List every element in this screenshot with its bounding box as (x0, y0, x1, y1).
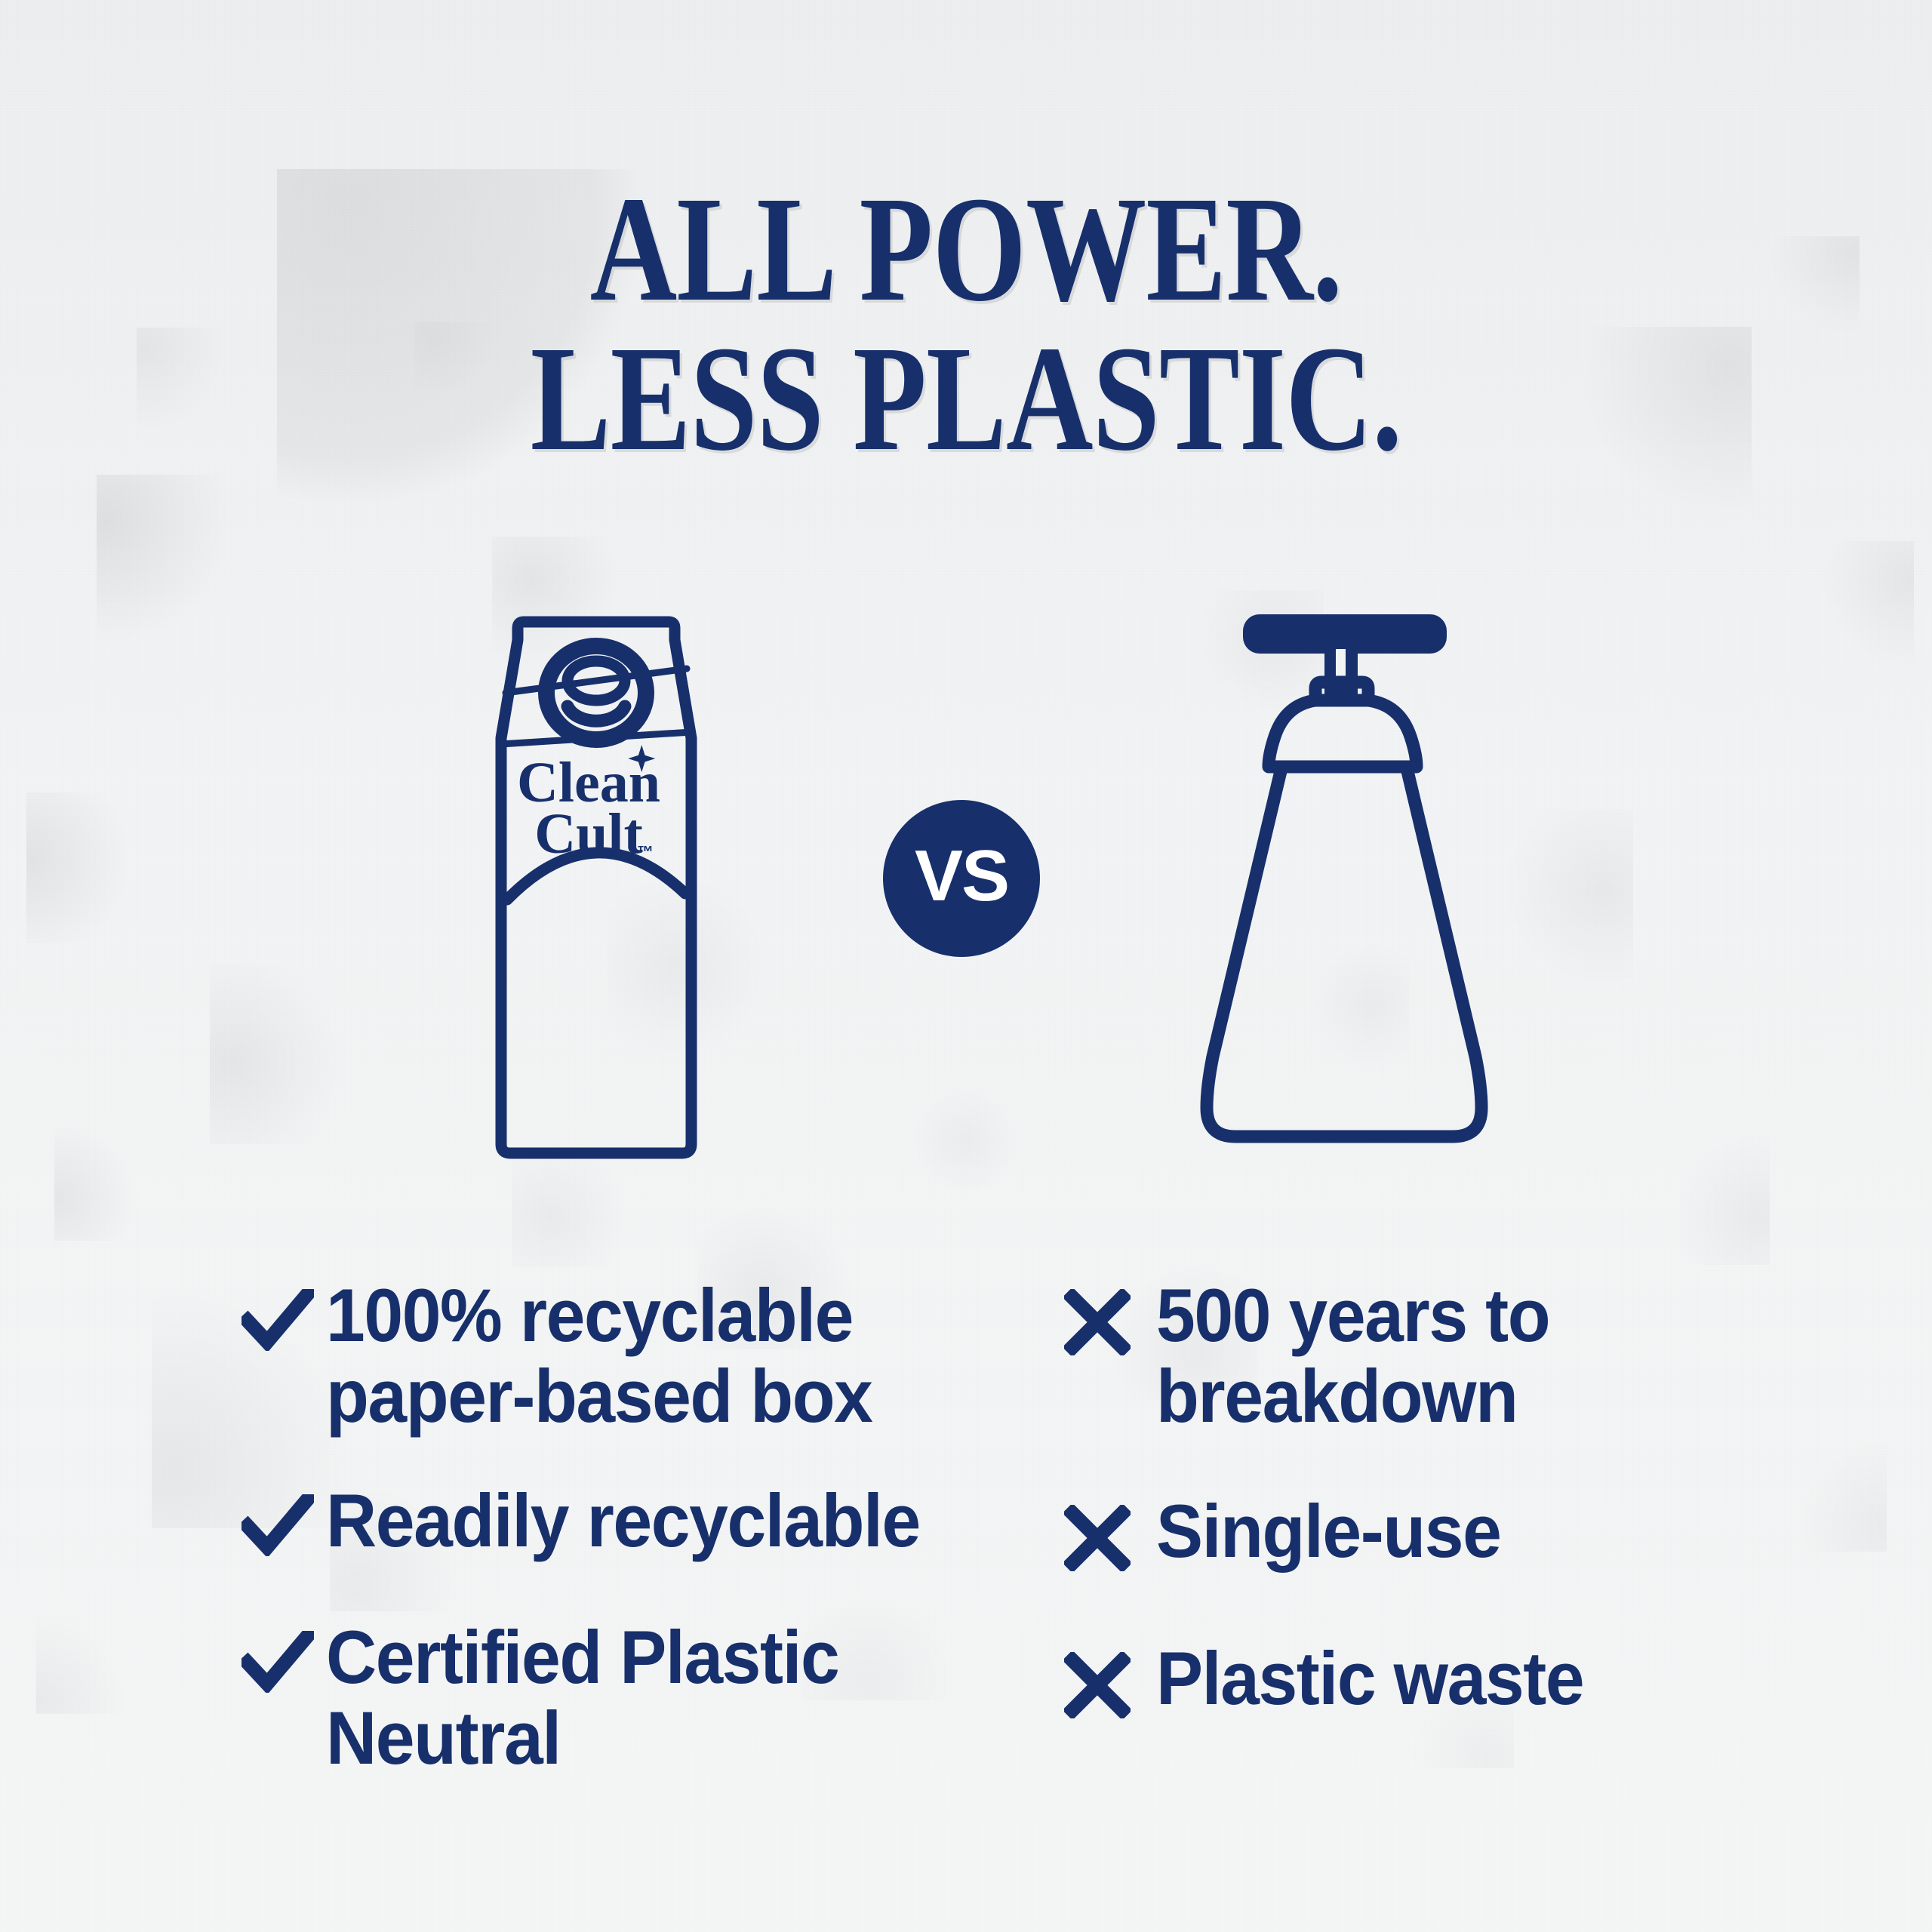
list-item-label: Single-use (1156, 1491, 1500, 1572)
list-item-label: Plastic waste (1156, 1638, 1583, 1719)
check-icon (241, 1275, 326, 1351)
cross-icon (1064, 1275, 1156, 1355)
headline-line-1: ALL POWER. (193, 175, 1739, 325)
list-item: Readily recyclable (241, 1481, 1011, 1561)
list-item: Single-use (1064, 1491, 1834, 1572)
brand-name-line-2: Cult (534, 802, 643, 866)
plastic-pump-bottle-illustration (1196, 604, 1498, 1192)
list-item-label: 100% recyclable paper-based box (326, 1275, 872, 1437)
brand-logo: Clean Cult ™ (517, 745, 660, 866)
carton-cap-arc (568, 706, 625, 721)
list-item-label: Readily recyclable (326, 1481, 920, 1561)
benefits-list-carton: 100% recyclable paper-based box Readily … (241, 1275, 1011, 1829)
cleancult-carton-illustration: Clean Cult ™ (483, 611, 709, 1185)
check-icon (241, 1481, 326, 1556)
list-item: 100% recyclable paper-based box (241, 1275, 1011, 1437)
vs-badge: VS (883, 800, 1040, 957)
pump-bottle-icon (1196, 604, 1498, 1192)
drawbacks-list-plastic-bottle: 500 years to breakdown Single-use Plasti… (1064, 1275, 1834, 1769)
trademark-symbol: ™ (637, 842, 654, 861)
infographic-canvas: ALL POWER. LESS PLASTIC. (0, 0, 1932, 1932)
cross-icon (1064, 1491, 1156, 1571)
list-item-label: 500 years to breakdown (1156, 1275, 1549, 1437)
cross-icon (1064, 1638, 1156, 1718)
list-item: Certified Plastic Neutral (241, 1617, 1011, 1779)
pump-handle (1243, 614, 1447, 654)
headline-line-2: LESS PLASTIC. (193, 325, 1739, 474)
carton-icon: Clean Cult ™ (483, 611, 709, 1185)
vs-label: VS (915, 835, 1008, 918)
list-item-label: Certified Plastic Neutral (326, 1617, 838, 1779)
list-item: Plastic waste (1064, 1638, 1834, 1719)
page-title: ALL POWER. LESS PLASTIC. (193, 175, 1739, 474)
check-icon (241, 1617, 326, 1693)
list-item: 500 years to breakdown (1064, 1275, 1834, 1437)
